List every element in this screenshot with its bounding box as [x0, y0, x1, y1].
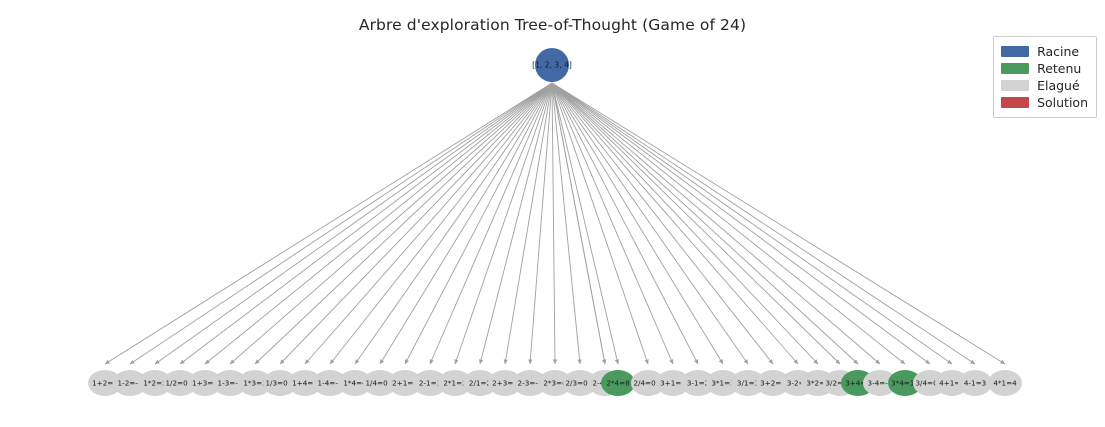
tree-edge: [180, 83, 552, 364]
legend-swatch-icon: [1001, 97, 1029, 108]
tree-node-root[interactable]: [1, 2, 3, 4]: [535, 48, 569, 82]
tree-edge: [255, 83, 552, 364]
tree-edge: [552, 83, 930, 364]
legend-item-racine[interactable]: Racine: [1001, 43, 1088, 60]
tree-edge: [305, 83, 552, 364]
tree-edge: [105, 83, 552, 364]
tree-edge: [552, 83, 698, 364]
tree-edge: [552, 83, 858, 364]
tree-edge: [405, 83, 552, 364]
legend-item-label: Elagué: [1037, 78, 1080, 93]
tree-edge: [552, 83, 605, 364]
legend-item-retenu[interactable]: Retenu: [1001, 60, 1088, 77]
tree-edge: [355, 83, 552, 364]
legend-item-solution[interactable]: Solution: [1001, 94, 1088, 111]
tree-edge: [155, 83, 552, 364]
tree-node-label: 4*1=4: [993, 379, 1016, 388]
tree-edge: [552, 83, 723, 364]
legend-item-label: Racine: [1037, 44, 1079, 59]
tree-edge: [552, 83, 840, 364]
tree-edge: [552, 83, 905, 364]
tree-edge: [505, 83, 552, 364]
tree-edge: [380, 83, 552, 364]
legend-swatch-icon: [1001, 46, 1029, 57]
tree-node-leaf[interactable]: 4-1=3: [958, 370, 992, 396]
tree-edge: [130, 83, 552, 364]
legend-item-label: Solution: [1037, 95, 1088, 110]
edge-group: [105, 83, 1005, 364]
tree-edge: [330, 83, 552, 364]
tree-edge: [552, 83, 975, 364]
tree-edge: [280, 83, 552, 364]
tree-edge: [205, 83, 552, 364]
tree-edge: [552, 83, 555, 364]
tree-node-leaf[interactable]: 4*1=4: [988, 370, 1022, 396]
legend-item-elagu[interactable]: Elagué: [1001, 77, 1088, 94]
legend-swatch-icon: [1001, 80, 1029, 91]
tree-edge: [552, 83, 798, 364]
legend-swatch-icon: [1001, 63, 1029, 74]
tree-node-label: [1, 2, 3, 4]: [532, 61, 572, 70]
tree-node-label: 4-1=3: [964, 379, 986, 388]
tree-node-leaf[interactable]: 2*4=8: [601, 370, 635, 396]
tree-edge: [552, 83, 880, 364]
legend: RacineRetenuElaguéSolution: [993, 36, 1097, 118]
legend-item-label: Retenu: [1037, 61, 1081, 76]
tree-node-label: 2*4=8: [606, 379, 629, 388]
tree-diagram-canvas: Arbre d'exploration Tree-of-Thought (Gam…: [0, 0, 1105, 427]
tree-edge: [552, 83, 952, 364]
tree-edge: [552, 83, 748, 364]
